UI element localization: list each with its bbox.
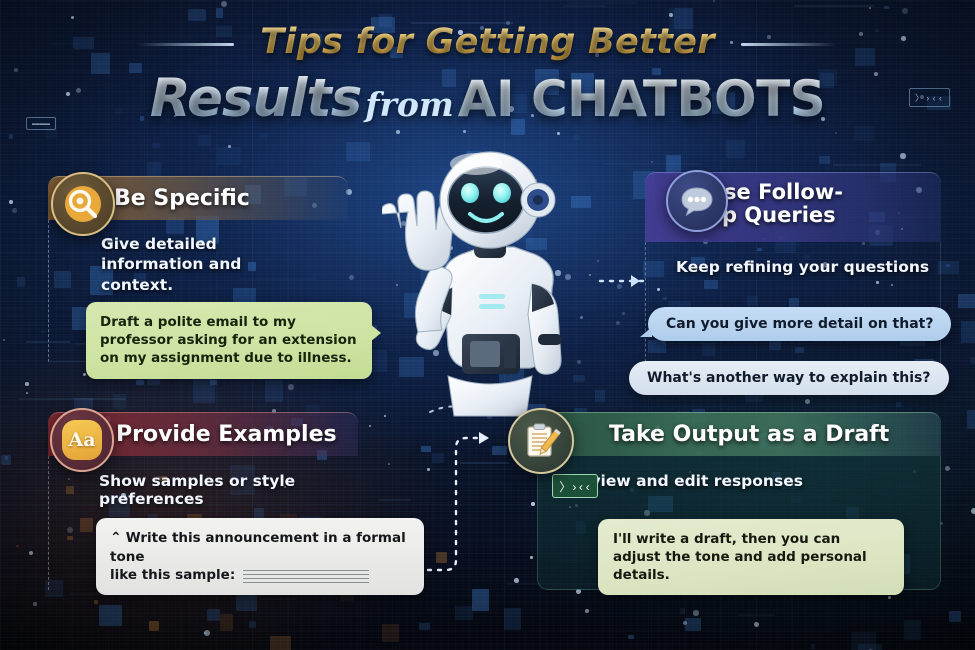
example-bubble-line-1: Write this announcement in a formal tone bbox=[110, 530, 406, 565]
terminal-badge-icon: 〉›‹‹ bbox=[552, 474, 598, 498]
example-bubble-line-2: like this sample: bbox=[110, 567, 235, 583]
aa-text-icon: Aa bbox=[62, 420, 102, 460]
title-rule-right bbox=[741, 43, 837, 46]
badge-be-specific bbox=[51, 172, 115, 236]
example-bubble-be-specific-text: Draft a polite email to my professor ask… bbox=[100, 314, 357, 366]
follow-up-query-bubble-1[interactable]: Can you give more detail on that? bbox=[648, 307, 951, 341]
example-bubble-line-2-wrap: like this sample: bbox=[110, 566, 410, 584]
title-results: Results bbox=[150, 68, 361, 129]
speech-bubble-icon bbox=[678, 182, 716, 220]
title-rule-left bbox=[138, 43, 234, 46]
page-title: Tips for Getting Better ResultsfromAI CH… bbox=[0, 22, 975, 129]
example-bubble-line-1-wrap: ⌃Write this announcement in a formal ton… bbox=[110, 529, 410, 566]
badge-take-output-as-a-draft bbox=[508, 408, 574, 474]
example-bubble-provide-examples[interactable]: ⌃Write this announcement in a formal ton… bbox=[96, 518, 424, 595]
magnifier-icon bbox=[63, 184, 103, 224]
title-line-1: Tips for Getting Better bbox=[242, 22, 733, 62]
card-take-output-as-a-draft-title: Take Output as a Draft bbox=[537, 423, 889, 447]
follow-up-query-2-text: What's another way to explain this? bbox=[647, 370, 931, 386]
infographic-canvas: 〉›‹‹ ▬▬▬▬▬ Tips for Getting Better Resul… bbox=[0, 0, 975, 650]
follow-up-query-1-text: Can you give more detail on that? bbox=[666, 316, 933, 332]
example-bubble-be-specific[interactable]: Draft a polite email to my professor ask… bbox=[86, 302, 372, 379]
clipboard-pencil-icon bbox=[520, 420, 562, 462]
sample-placeholder-lines bbox=[243, 567, 369, 583]
title-line-2-wrap: ResultsfromAI CHATBOTS bbox=[0, 68, 975, 129]
follow-up-query-bubble-2[interactable]: What's another way to explain this? bbox=[629, 361, 949, 395]
badge-use-follow-up-queries bbox=[666, 170, 728, 232]
example-bubble-take-output-as-a-draft[interactable]: I'll write a draft, then you can adjust … bbox=[598, 519, 904, 595]
example-bubble-draft-text: I'll write a draft, then you can adjust … bbox=[613, 531, 867, 583]
ai-robot-illustration bbox=[382, 138, 597, 428]
badge-provide-examples: Aa bbox=[50, 408, 114, 472]
card-take-output-as-a-draft-subtitle: Review and edit responses bbox=[538, 456, 940, 490]
title-line-1-wrap: Tips for Getting Better bbox=[242, 22, 733, 62]
title-ai-chatbots: AI CHATBOTS bbox=[458, 70, 825, 128]
caret-up-icon: ⌃ bbox=[110, 529, 122, 548]
title-from: from bbox=[365, 85, 454, 124]
card-take-output-as-a-draft-header: Take Output as a Draft bbox=[537, 412, 941, 456]
card-use-follow-up-queries-subtitle: Keep refining your questions bbox=[646, 242, 940, 276]
